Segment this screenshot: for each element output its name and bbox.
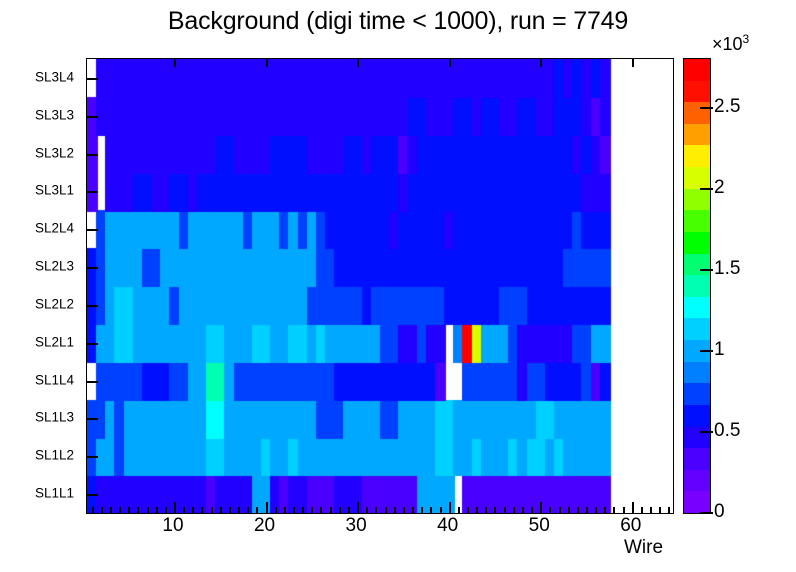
y-axis-tick [87,191,98,193]
y-axis-tick [87,494,98,496]
colorbar-band [684,210,710,232]
colorbar-tick-label-0-5: 0.5 [714,420,740,442]
colorbar-band [684,361,710,383]
root-canvas: Background (digi time < 1000), run = 774… [0,0,796,572]
x-axis-tick-label-40: 40 [437,515,458,537]
y-axis-tick [87,154,98,156]
x-axis-tick-label-50: 50 [529,515,550,537]
y-axis-tick-label-sl1l3: SL1L3 [35,410,74,425]
x-axis-major-tick-top [632,59,634,67]
x-axis-major-tick [449,502,451,513]
y-axis-tick-label-sl3l3: SL3L3 [35,107,74,122]
x-axis-tick-label-30: 30 [346,515,367,537]
y-axis-tick-label-sl2l2: SL2L2 [35,296,74,311]
colorbar-band [684,383,710,405]
y-axis-tick [87,229,98,231]
x-axis-major-tick [266,502,268,513]
colorbar-tick-label-2-5: 2.5 [714,96,740,118]
y-axis-tick-label-sl2l3: SL2L3 [35,259,74,274]
exponent-mantissa: ×10 [712,34,743,54]
x-axis-labels: 102030405060 [0,513,796,543]
colorbar-band [684,275,710,297]
y-axis-tick-label-sl2l4: SL2L4 [35,221,74,236]
colorbar-band [684,102,710,124]
colorbar-band [684,296,710,318]
chart-title: Background (digi time < 1000), run = 774… [0,7,796,36]
colorbar-tick-label-1-5: 1.5 [714,258,740,280]
colorbar-band [684,231,710,253]
colorbar-tick-label-2: 2 [714,177,725,199]
x-axis-major-tick-top [449,59,451,67]
colorbar-band [684,80,710,102]
colorbar-exponent-label: ×103 [712,32,749,55]
colorbar-tick-label-1: 1 [714,339,725,361]
colorbar-band [684,426,710,448]
x-axis-major-tick [632,502,634,513]
colorbar-band [684,145,710,167]
colorbar-tick-label-0: 0 [714,501,725,523]
x-axis-tick-label-20: 20 [254,515,275,537]
x-axis-major-tick-top [357,59,359,67]
colorbar-band [684,167,710,189]
y-axis-tick-label-sl3l1: SL3L1 [35,183,74,198]
colorbar-band [684,123,710,145]
colorbar-band [684,318,710,340]
y-axis-tick [87,116,98,118]
x-axis-title: Wire [624,537,663,559]
y-axis-tick-label-sl2l1: SL2L1 [35,334,74,349]
colorbar-band [684,491,710,513]
exponent-power: 3 [743,32,750,46]
y-axis-tick [87,267,98,269]
colorbar-band [684,188,710,210]
colorbar-band [684,448,710,470]
x-axis-major-tick-top [266,59,268,67]
plot-area[interactable] [86,58,674,514]
colorbar-band [684,404,710,426]
x-axis-major-tick-top [540,59,542,67]
y-axis-tick-label-sl1l1: SL1L1 [35,486,74,501]
x-axis-major-tick [357,502,359,513]
colorbar-band [684,469,710,491]
y-axis-tick [87,343,98,345]
colorbar-band [684,339,710,361]
y-axis-tick [87,305,98,307]
colorbar-band [684,253,710,275]
x-axis-tick-label-60: 60 [620,515,641,537]
y-axis-tick [87,381,98,383]
y-axis-tick-label-sl1l2: SL1L2 [35,448,74,463]
y-axis-tick [87,418,98,420]
x-axis-major-tick [174,502,176,513]
y-axis-tick [87,456,98,458]
colorbar[interactable] [683,58,711,514]
y-axis-labels: SL1L1SL1L2SL1L3SL1L4SL2L1SL2L2SL2L3SL2L4… [0,0,82,572]
x-axis-tick-label-10: 10 [162,515,183,537]
y-axis-tick-label-sl1l4: SL1L4 [35,372,74,387]
heatmap-canvas[interactable] [87,59,673,513]
y-axis-tick-label-sl3l2: SL3L2 [35,145,74,160]
y-axis-tick-label-sl3l4: SL3L4 [35,69,74,84]
colorbar-band [684,58,710,80]
x-axis-major-tick [540,502,542,513]
y-axis-tick [87,78,98,80]
x-axis-major-tick-top [174,59,176,67]
colorbar-labels: 00.511.522.5 [714,58,796,514]
